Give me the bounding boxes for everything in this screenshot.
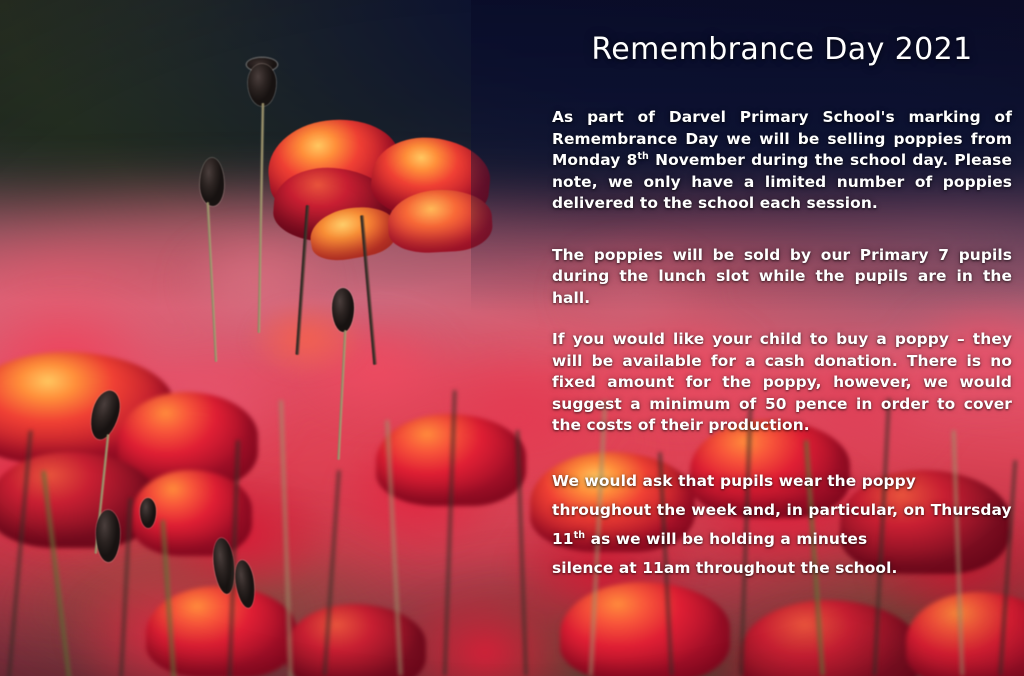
- paragraph-silence-tail: silence at 11am throughout the school.: [552, 554, 1012, 583]
- poppy-petal: [286, 604, 426, 676]
- remembrance-day-poster: Remembrance Day 2021 As part of Darvel P…: [0, 0, 1024, 676]
- paragraph-intro: As part of Darvel Primary School's marki…: [552, 107, 1012, 215]
- poster-text-column: Remembrance Day 2021 As part of Darvel P…: [540, 0, 1024, 676]
- poppy-flower: [286, 604, 426, 676]
- ordinal-suffix-8th: th: [637, 151, 649, 162]
- page-title: Remembrance Day 2021: [552, 32, 1012, 67]
- paragraph-silence-text-after: as we will be holding a minutes: [585, 530, 867, 548]
- paragraph-sellers: The poppies will be sold by our Primary …: [552, 245, 1012, 310]
- seed-head: [200, 158, 224, 206]
- hero-poppy-right-lower: [386, 187, 493, 254]
- paragraph-donation: If you would like your child to buy a po…: [552, 329, 1012, 437]
- ordinal-suffix-11th: th: [574, 529, 586, 540]
- poster-body: As part of Darvel Primary School's marki…: [552, 107, 1012, 583]
- paragraph-silence: We would ask that pupils wear the poppy …: [552, 467, 1012, 583]
- poppy-petal: [386, 187, 493, 254]
